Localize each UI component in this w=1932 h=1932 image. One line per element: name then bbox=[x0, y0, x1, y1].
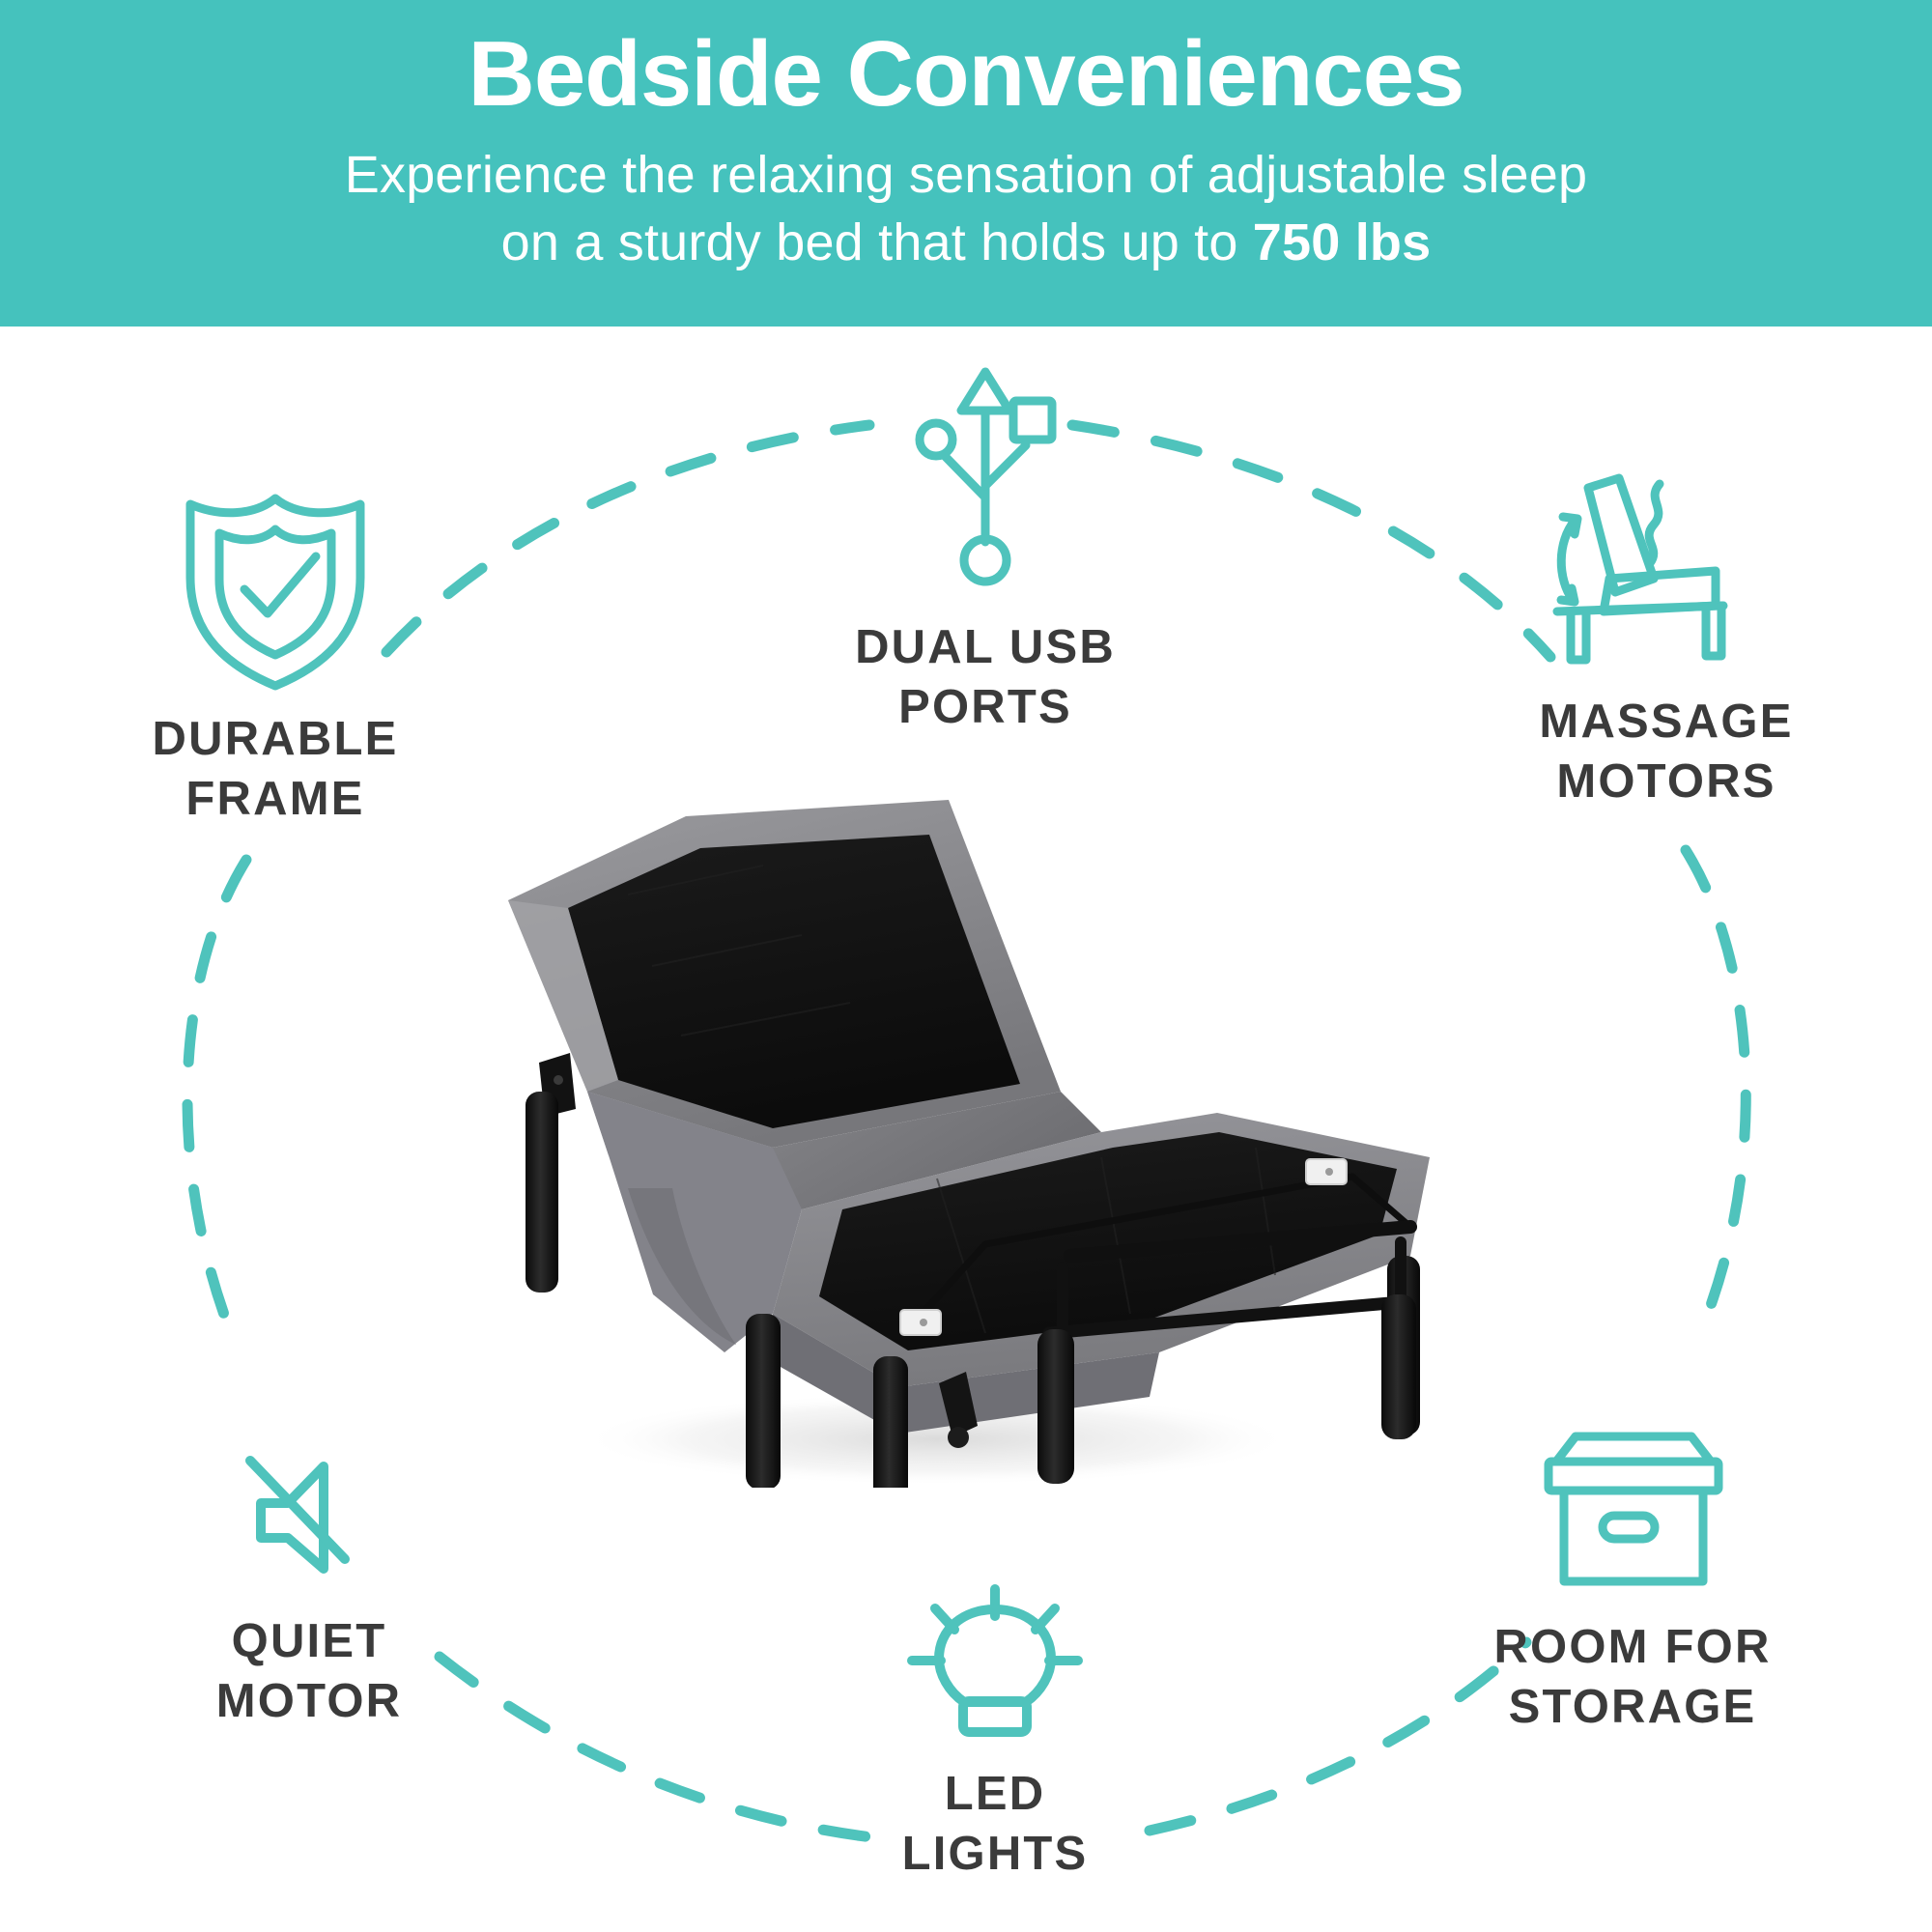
feature-label-dual-usb-ports: DUAL USB PORTS bbox=[763, 617, 1207, 737]
feature-dual-usb-ports[interactable]: DUAL USB PORTS bbox=[763, 362, 1207, 737]
dual-usb-icon-wrap bbox=[763, 362, 1207, 604]
massage-motors-icon-wrap bbox=[1444, 470, 1889, 678]
shield-check-icon bbox=[169, 473, 382, 696]
page-title: Bedside Conveniences bbox=[0, 21, 1932, 128]
feature-label-durable-frame: DURABLE FRAME bbox=[53, 709, 497, 829]
page-subtitle: Experience the relaxing sensation of adj… bbox=[0, 141, 1932, 276]
product-image-adjustable-bed bbox=[483, 773, 1459, 1488]
feature-label-quiet-motor: QUIET MOTOR bbox=[87, 1611, 531, 1731]
feature-massage-motors[interactable]: MASSAGE MOTORS bbox=[1444, 470, 1889, 811]
usb-icon bbox=[894, 362, 1077, 604]
retainer-bracket-left bbox=[900, 1310, 941, 1335]
retainer-bracket-right bbox=[1306, 1159, 1347, 1184]
dashed-arc-right bbox=[1686, 850, 1746, 1333]
mute-speaker-icon bbox=[235, 1453, 384, 1598]
infographic-page: Bedside Conveniences Experience the rela… bbox=[0, 0, 1932, 1932]
feature-led-lights[interactable]: LED LIGHTS bbox=[773, 1581, 1217, 1884]
subtitle-line-2-prefix: on a sturdy bed that holds up to bbox=[501, 213, 1253, 271]
light-bulb-icon bbox=[898, 1581, 1092, 1750]
feature-durable-frame[interactable]: DURABLE FRAME bbox=[53, 473, 497, 829]
dashed-arc-left bbox=[187, 860, 246, 1343]
feature-label-led-lights: LED LIGHTS bbox=[773, 1764, 1217, 1884]
quiet-motor-icon-wrap bbox=[87, 1453, 531, 1598]
feature-label-massage-motors: MASSAGE MOTORS bbox=[1444, 692, 1889, 811]
storage-icon-wrap bbox=[1410, 1425, 1855, 1604]
massage-motors-icon bbox=[1546, 470, 1787, 678]
feature-room-for-storage[interactable]: ROOM FOR STORAGE bbox=[1410, 1425, 1855, 1737]
storage-box-icon bbox=[1529, 1425, 1737, 1604]
subtitle-line-1: Experience the relaxing sensation of adj… bbox=[0, 141, 1932, 209]
led-lights-icon-wrap bbox=[773, 1581, 1217, 1750]
weight-capacity-value: 750 lbs bbox=[1253, 213, 1432, 271]
feature-quiet-motor[interactable]: QUIET MOTOR bbox=[87, 1453, 531, 1731]
subtitle-line-2: on a sturdy bed that holds up to 750 lbs bbox=[0, 209, 1932, 276]
feature-label-room-for-storage: ROOM FOR STORAGE bbox=[1410, 1617, 1855, 1737]
header-banner: Bedside Conveniences Experience the rela… bbox=[0, 0, 1932, 327]
durable-frame-icon-wrap bbox=[53, 473, 497, 696]
